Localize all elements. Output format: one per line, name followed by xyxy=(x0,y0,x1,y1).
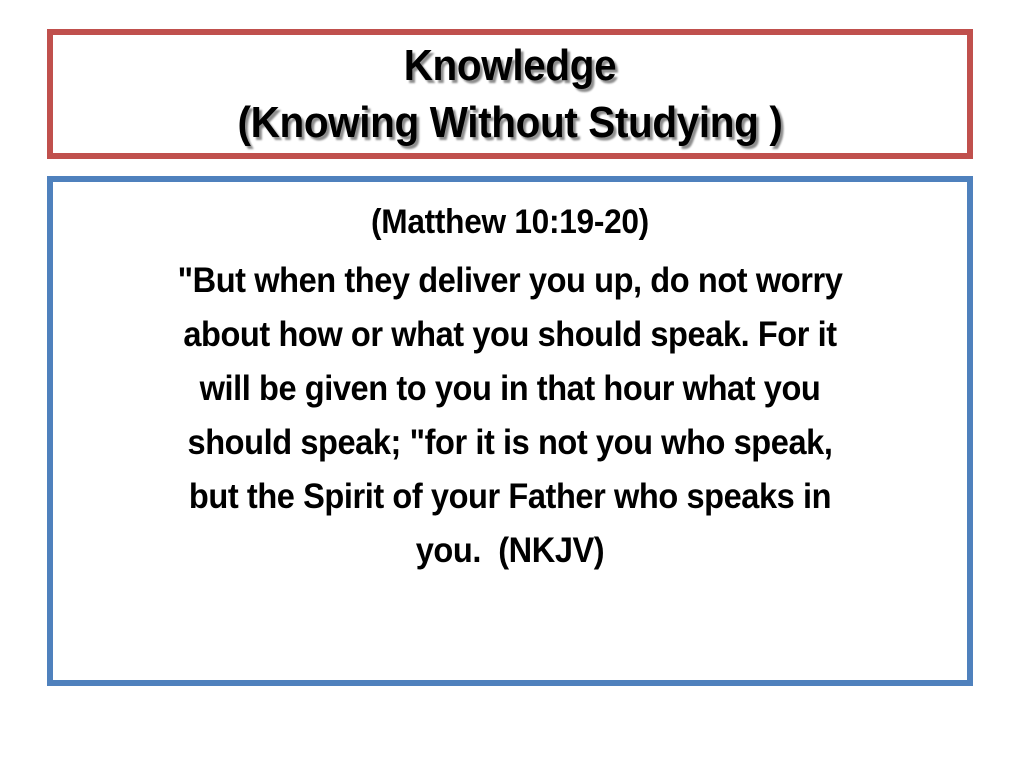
scripture-reference: (Matthew 10:19-20) xyxy=(105,196,914,248)
scripture-line: you. (NKJV) xyxy=(105,524,914,578)
title-line-primary: Knowledge xyxy=(90,37,931,94)
scripture-content-box: (Matthew 10:19-20) "But when they delive… xyxy=(47,176,973,686)
scripture-line: but the Spirit of your Father who speaks… xyxy=(105,470,914,524)
scripture-line: "But when they deliver you up, do not wo… xyxy=(105,254,914,308)
presentation-slide: Knowledge (Knowing Without Studying ) (M… xyxy=(0,0,1024,768)
scripture-line: will be given to you in that hour what y… xyxy=(105,362,914,416)
scripture-line: should speak; "for it is not you who spe… xyxy=(105,416,914,470)
scripture-body: "But when they deliver you up, do not wo… xyxy=(105,254,914,578)
scripture-line: about how or what you should speak. For … xyxy=(105,308,914,362)
title-line-secondary: (Knowing Without Studying ) xyxy=(90,94,931,151)
title-box: Knowledge (Knowing Without Studying ) xyxy=(47,29,973,159)
